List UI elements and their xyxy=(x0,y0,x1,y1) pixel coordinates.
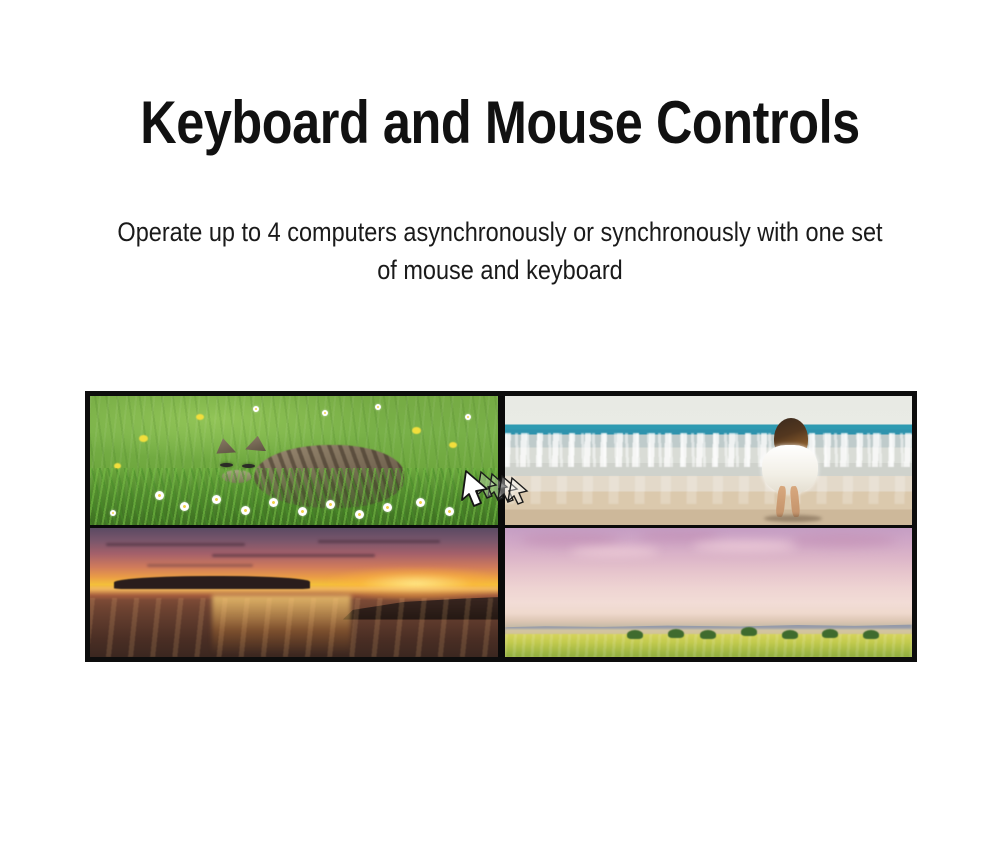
cloud xyxy=(570,547,660,556)
girl-shadow xyxy=(764,515,823,522)
sunset-beach-image xyxy=(90,528,498,657)
girl-walking xyxy=(757,418,822,521)
cloud xyxy=(639,531,721,543)
cloud-streak xyxy=(147,564,253,567)
monitor-wall xyxy=(85,391,917,662)
cloud-streak xyxy=(318,540,440,543)
daisy-flower xyxy=(241,506,250,515)
page-title: Keyboard and Mouse Controls xyxy=(80,88,920,158)
kitten-eye-left xyxy=(220,463,233,467)
bush xyxy=(822,629,838,638)
bush xyxy=(627,630,643,639)
wet-sand xyxy=(505,476,913,504)
sand-streaks xyxy=(90,598,498,657)
daisy-flower xyxy=(445,507,454,516)
bush xyxy=(741,627,757,636)
page-subtitle: Operate up to 4 computers asynchronously… xyxy=(117,213,883,289)
daisy-flower xyxy=(110,510,116,516)
daisy-flower xyxy=(180,502,189,511)
buttercup-flower xyxy=(412,427,421,434)
daisy-flower xyxy=(465,414,471,420)
cloud-streak xyxy=(106,543,245,546)
screen-divider-vertical xyxy=(498,396,505,657)
cloud xyxy=(521,533,619,547)
cloud-streak xyxy=(212,554,375,557)
rocky-headland xyxy=(114,576,310,589)
screen-bottom-left[interactable] xyxy=(90,528,498,657)
marketing-page: Keyboard and Mouse Controls Operate up t… xyxy=(0,0,1000,847)
beach-walk-image xyxy=(505,396,913,525)
daisy-flower xyxy=(416,498,425,507)
kitten-ear-right xyxy=(245,436,267,451)
screen-bottom-right[interactable] xyxy=(505,528,913,657)
daisy-flower xyxy=(298,507,307,516)
buttercup-flower xyxy=(139,435,148,442)
cloud xyxy=(692,541,798,551)
sun-glow xyxy=(326,567,497,601)
screen-top-left[interactable] xyxy=(90,396,498,525)
daisy-flower xyxy=(375,404,381,410)
cloud xyxy=(790,534,896,547)
bush xyxy=(668,629,684,638)
bush xyxy=(700,630,716,639)
daisy-flower xyxy=(355,510,364,519)
grass-foreground xyxy=(90,468,498,525)
kitten-ear-left xyxy=(214,438,236,453)
bush xyxy=(782,630,798,639)
pink-sky-field-image xyxy=(505,528,913,657)
kitten-in-grass-image xyxy=(90,396,498,525)
buttercup-flower xyxy=(196,414,204,420)
bush xyxy=(863,630,879,639)
ocean-surf xyxy=(505,433,913,467)
screen-top-right[interactable] xyxy=(505,396,913,525)
